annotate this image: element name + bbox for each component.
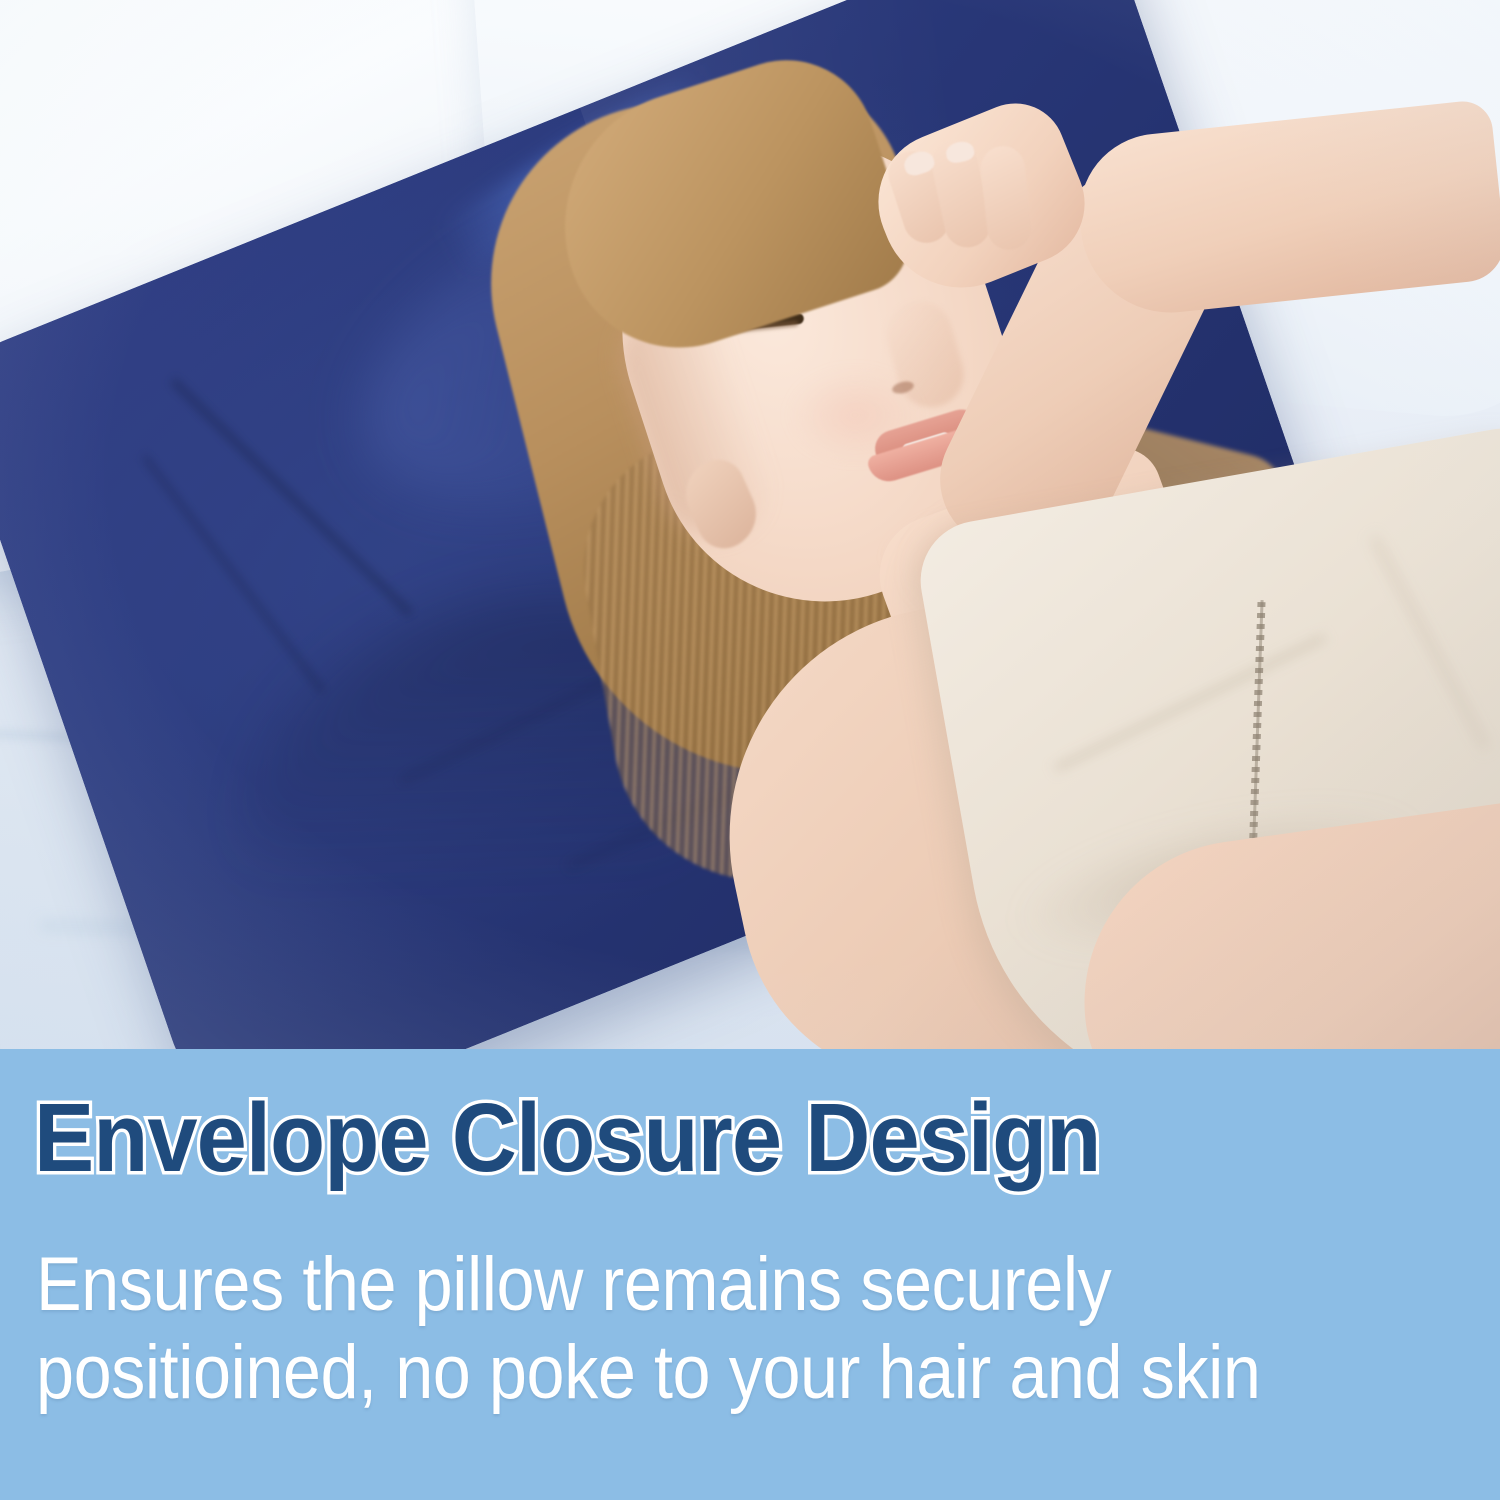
subheading-line-2: positioined, no poke to your hair and sk… [36, 1329, 1260, 1417]
sleeping-woman [0, 0, 1500, 1049]
product-lifestyle-photo [0, 0, 1500, 1049]
feature-text-banner: Envelope Closure Design Ensures the pill… [0, 1049, 1500, 1500]
feature-headline: Envelope Closure Design [34, 1089, 1100, 1186]
product-infographic: Envelope Closure Design Ensures the pill… [0, 0, 1500, 1500]
forearm [1072, 99, 1500, 322]
feature-subheading: Ensures the pillow remains securely posi… [36, 1241, 1260, 1417]
subheading-line-1: Ensures the pillow remains securely [36, 1241, 1260, 1329]
